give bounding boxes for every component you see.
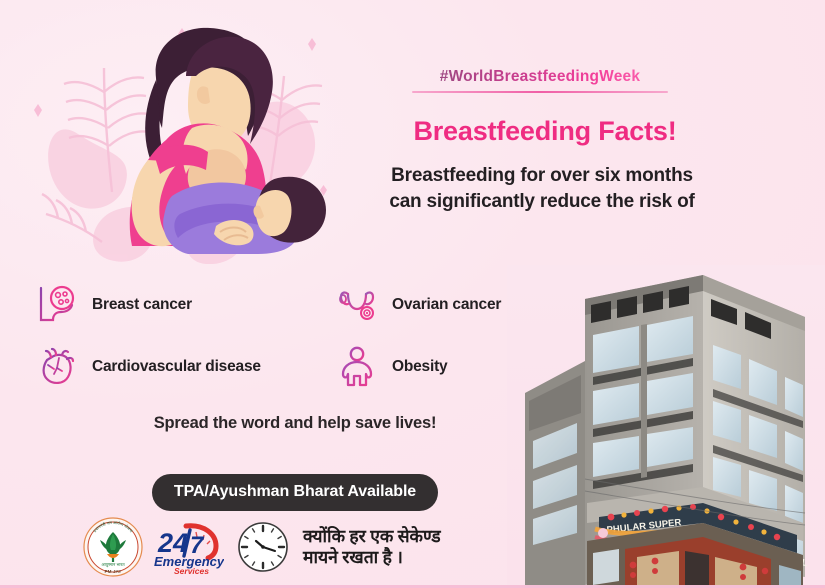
obesity-icon [334, 344, 380, 390]
fact-label: Obesity [392, 358, 447, 376]
fact-label: Breast cancer [92, 296, 192, 314]
hospital-building-photo: PHULAR SUPER SPECIALITY HOSPITAL [507, 265, 825, 585]
poster-canvas: #WorldBreastfeedingWeek Breastfeeding Fa… [0, 0, 825, 588]
heart-icon [34, 344, 80, 390]
hashtag-underline [412, 91, 668, 93]
ayushman-bharat-logo-icon: आयुष्मान भारत PM-JAY प्रधानमंत्री जन आरो… [80, 516, 146, 578]
fact-item-cardiovascular-disease: Cardiovascular disease [34, 344, 334, 390]
pmjay-logo: आयुष्मान भारत PM-JAY प्रधानमंत्री जन आरो… [80, 516, 146, 578]
hindi-tagline: क्योंकि हर एक सेकेण्ड मायने रखता है । [303, 526, 441, 568]
mother-breastfeeding-illustration [60, 18, 350, 258]
hashtag-text: #WorldBreastfeedingWeek [412, 68, 668, 86]
facts-list: Breast cancer Ovarian cancer [34, 274, 554, 398]
clock-graphic [224, 520, 290, 574]
ovary-icon [334, 282, 380, 328]
call-to-action-text: Spread the word and help save lives! [60, 414, 530, 433]
breast-cancer-icon [34, 282, 80, 328]
emergency-247-logo: 24 7 Emergency Services [146, 518, 224, 576]
fact-item-breast-cancer: Breast cancer [34, 282, 334, 328]
fact-label: Ovarian cancer [392, 296, 501, 314]
lede-line-1: Breastfeeding for over six months [336, 163, 748, 189]
clock-icon [236, 520, 290, 574]
lede-text: Breastfeeding for over six months can si… [336, 163, 748, 215]
emergency-24-7-icon: 24 7 Emergency Services [152, 518, 224, 576]
badge-container: TPA/Ayushman Bharat Available [60, 474, 530, 511]
hindi-line-2: मायने रखता है । [303, 547, 441, 568]
hindi-line-1: क्योंकि हर एक सेकेण्ड [303, 526, 441, 547]
lede-line-2: can significantly reduce the risk of [336, 189, 748, 215]
page-title: Breastfeeding Facts! [345, 116, 745, 147]
svg-text:Services: Services [174, 566, 209, 576]
svg-text:PM-JAY: PM-JAY [105, 569, 122, 574]
fact-label: Cardiovascular disease [92, 358, 261, 376]
facts-row-1: Breast cancer Ovarian cancer [34, 274, 554, 336]
tpa-ayushman-badge: TPA/Ayushman Bharat Available [152, 474, 438, 511]
facts-row-2: Cardiovascular disease Obesity [34, 336, 554, 398]
footer-bar: आयुष्मान भारत PM-JAY प्रधानमंत्री जन आरो… [80, 514, 441, 580]
hashtag-block: #WorldBreastfeedingWeek [412, 68, 668, 93]
